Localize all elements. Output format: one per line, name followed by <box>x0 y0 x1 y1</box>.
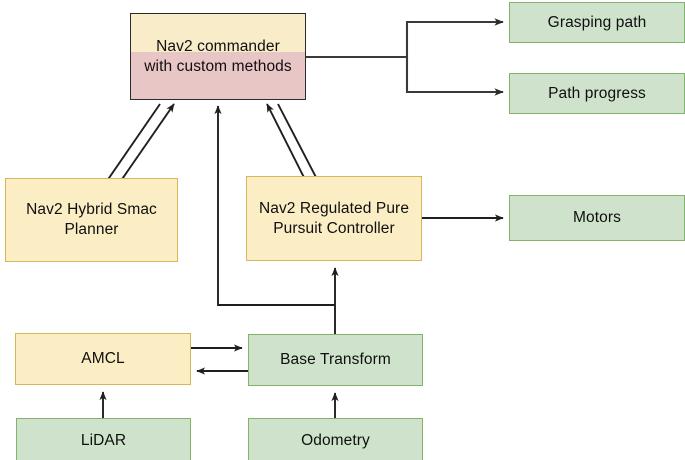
node-lidar[interactable]: LiDAR <box>16 418 191 460</box>
node-label: AMCL <box>16 349 190 369</box>
node-label: Path progress <box>510 84 684 104</box>
node-label: Nav2 commander with custom methods <box>131 37 305 77</box>
node-grasping-path[interactable]: Grasping path <box>509 2 685 43</box>
diagram-canvas: Nav2 commander with custom methods Grasp… <box>0 0 685 460</box>
node-label: Odometry <box>249 431 422 451</box>
node-motors[interactable]: Motors <box>509 195 685 241</box>
node-amcl[interactable]: AMCL <box>15 333 191 385</box>
node-nav2-regulated-pure-pursuit-controller[interactable]: Nav2 Regulated Pure Pursuit Controller <box>246 176 422 261</box>
node-path-progress[interactable]: Path progress <box>509 73 685 114</box>
node-odometry[interactable]: Odometry <box>248 418 423 460</box>
node-label: Nav2 Regulated Pure Pursuit Controller <box>247 199 421 239</box>
node-label: Motors <box>510 208 684 228</box>
edge-commander-to-grasping-path <box>306 22 503 57</box>
node-label: LiDAR <box>17 431 190 451</box>
edge-commander-to-path-progress <box>407 57 503 92</box>
node-nav2-hybrid-smac-planner[interactable]: Nav2 Hybrid Smac Planner <box>5 178 178 262</box>
node-label: Base Transform <box>249 350 422 370</box>
node-label: Nav2 Hybrid Smac Planner <box>6 200 177 240</box>
node-base-transform[interactable]: Base Transform <box>248 334 423 386</box>
node-nav2-commander[interactable]: Nav2 commander with custom methods <box>130 13 306 100</box>
node-label: Grasping path <box>510 13 684 33</box>
